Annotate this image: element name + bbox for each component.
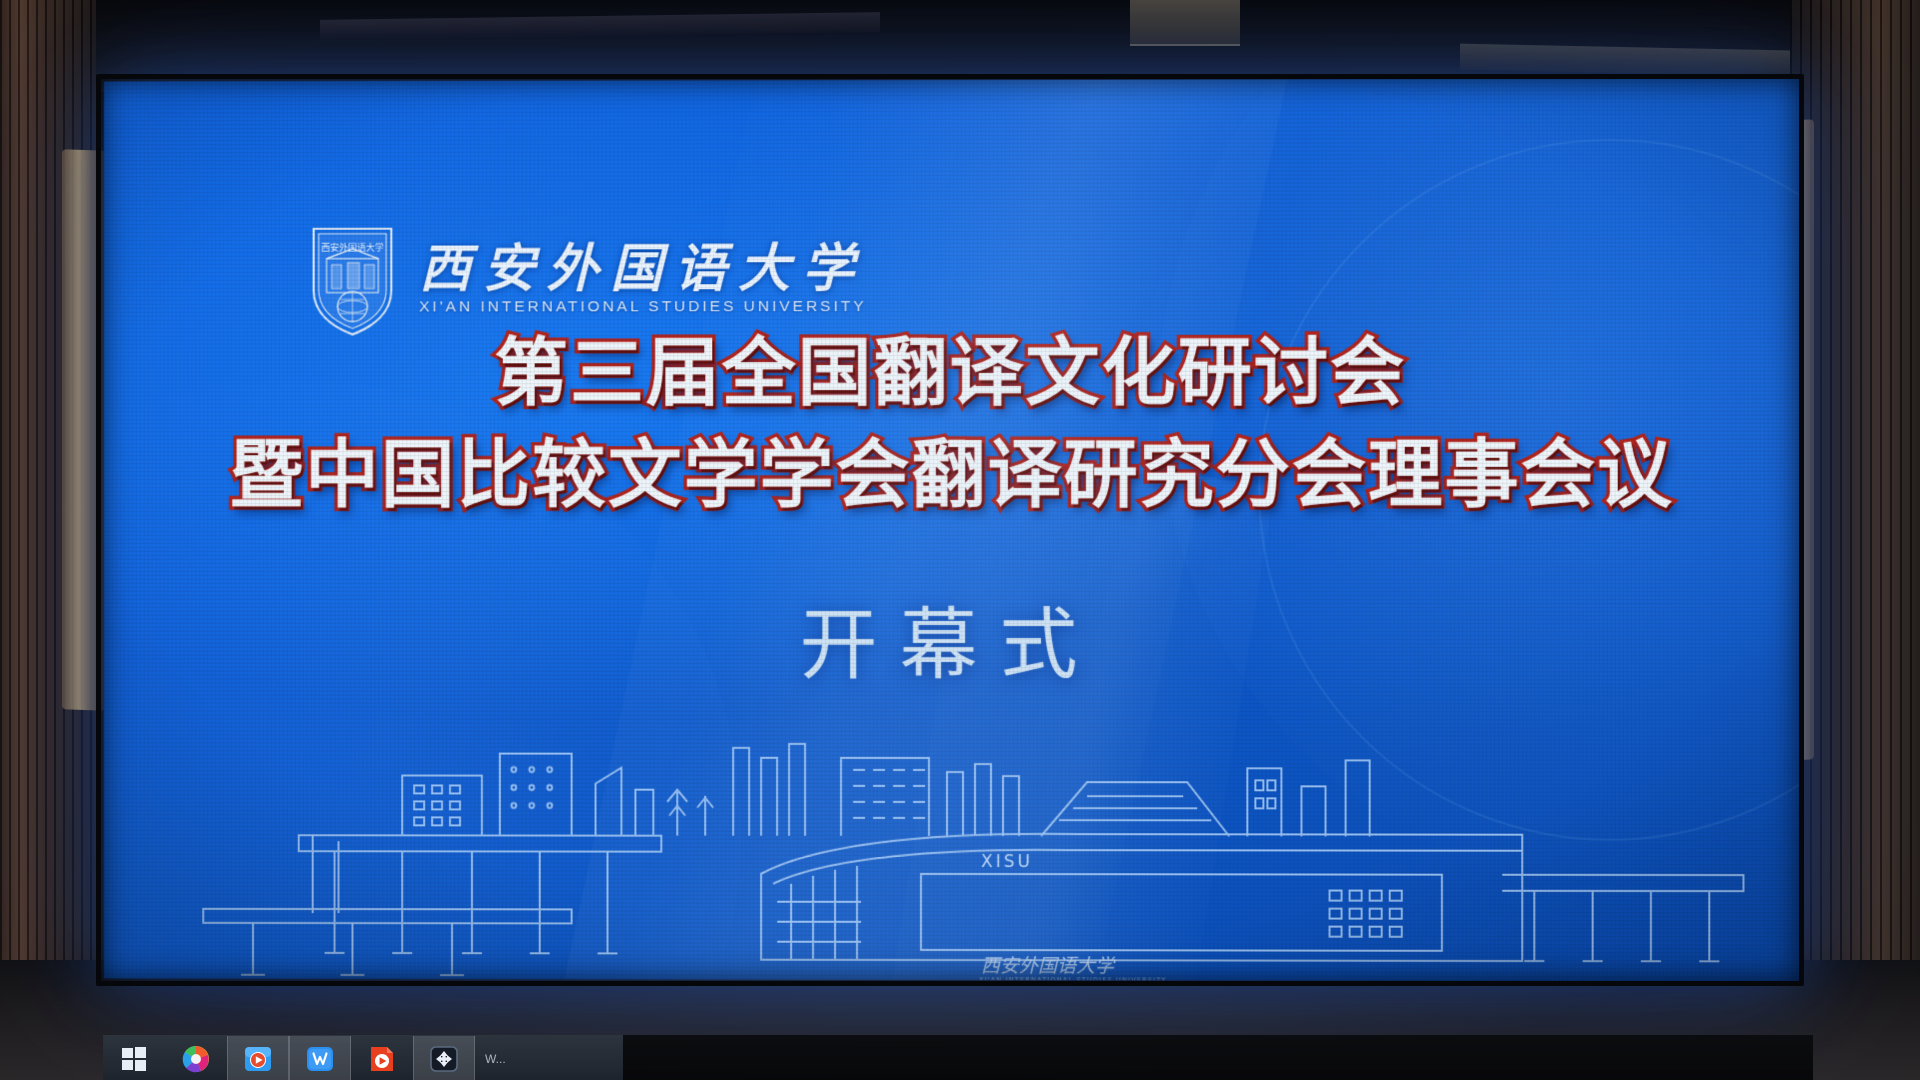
- blue-play-icon: [243, 1044, 273, 1074]
- windows-taskbar[interactable]: W...: [103, 1035, 623, 1080]
- taskbar-background-right: [623, 1035, 1813, 1080]
- university-logo-block: 西安外国语大学 西安外国语大学 XI'AN INTERNATIONAL STUD…: [308, 220, 867, 338]
- university-name-en: XI'AN INTERNATIONAL STUDIES UNIVERSITY: [419, 298, 866, 316]
- video-player-button[interactable]: [351, 1036, 413, 1080]
- pillar-left: [62, 149, 106, 711]
- university-name-cn: 西安外国语大学: [419, 242, 866, 297]
- wps-office-button[interactable]: [289, 1036, 351, 1080]
- red-play-icon: [368, 1044, 396, 1074]
- campus-caption-cn: 西安外国语大学: [981, 955, 1116, 977]
- media-player-button[interactable]: [227, 1036, 289, 1080]
- windows-logo-icon: [121, 1046, 147, 1072]
- chromium-swirl-icon: [181, 1044, 211, 1074]
- fullscreen-button[interactable]: [413, 1036, 475, 1080]
- screenshot-root: 西安外国语大学 西安外国语大学 XI'AN INTERNATIONAL STUD…: [0, 0, 1920, 1080]
- wps-w-icon: [305, 1044, 335, 1074]
- conference-title-line-2: 暨中国比较文学学会翻译研究分会理事会议: [104, 430, 1801, 521]
- browser-button[interactable]: [165, 1036, 227, 1080]
- led-presentation-screen[interactable]: 西安外国语大学 西安外国语大学 XI'AN INTERNATIONAL STUD…: [104, 78, 1801, 981]
- campus-line-art: XISU 西安外国语大学 XI'AN INTERNATIONAL STUDIES…: [104, 723, 1801, 981]
- building-label-xisu: XISU: [981, 852, 1033, 872]
- xisu-crest-icon: 西安外国语大学: [308, 221, 398, 339]
- expand-arrows-icon: [429, 1044, 459, 1074]
- slide-title-block: 第三届全国翻译文化研讨会 暨中国比较文学学会翻译研究分会理事会议 开幕式: [104, 327, 1801, 695]
- svg-text:西安外国语大学: 西安外国语大学: [321, 242, 384, 254]
- taskbar-overflow-label[interactable]: W...: [475, 1036, 623, 1080]
- conference-title-line-1: 第三届全国翻译文化研讨会: [104, 327, 1801, 418]
- ceiling-vent: [1130, 0, 1240, 46]
- conference-subtitle: 开幕式: [104, 582, 1801, 695]
- start-button[interactable]: [103, 1036, 165, 1080]
